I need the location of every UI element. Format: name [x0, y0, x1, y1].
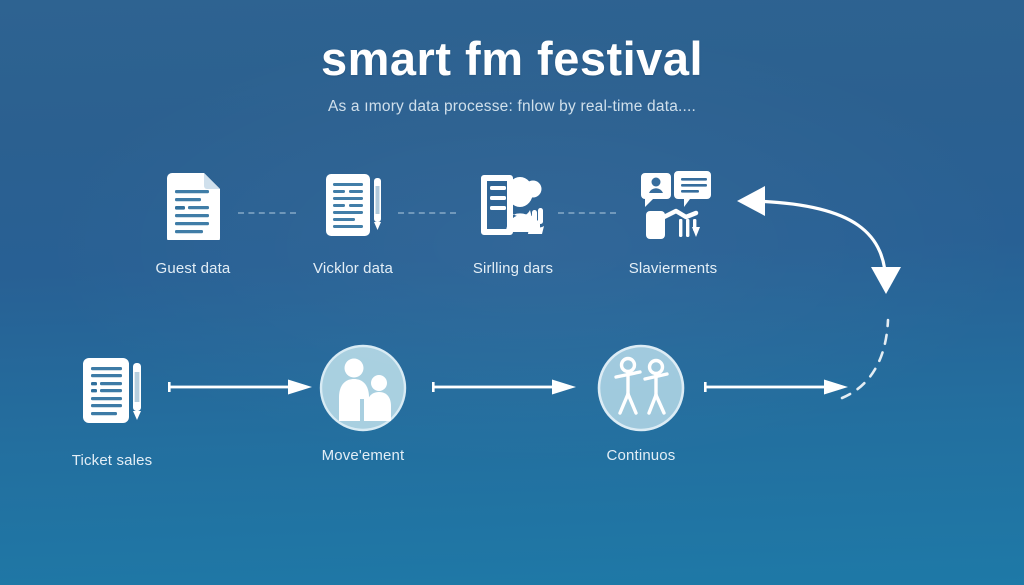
- node-guest-data[interactable]: Guest data: [118, 162, 268, 277]
- arrow-movement-to-continuos: [432, 378, 576, 396]
- document-pen-icon: [278, 162, 428, 248]
- document-pen-icon: [37, 350, 187, 436]
- node-label: Ticket sales: [37, 452, 187, 469]
- node-label: Sirlling dars: [438, 260, 588, 277]
- page-title: smart fm festival: [0, 34, 1024, 83]
- walking-people-circle-icon: [566, 345, 716, 431]
- node-label: Vicklor data: [278, 260, 428, 277]
- feedback-loop-arrow: [690, 160, 1024, 425]
- node-continuos[interactable]: Continuos: [566, 345, 716, 464]
- node-ticket-sales[interactable]: Ticket sales: [37, 350, 187, 469]
- node-label: Move'ement: [288, 447, 438, 464]
- node-label: Guest data: [118, 260, 268, 277]
- document-icon: [118, 162, 268, 248]
- node-sirlling-dars[interactable]: Sirlling dars: [438, 162, 588, 277]
- arrow-down-head: [871, 267, 901, 294]
- diagram-canvas: smart fm festival As a ımory data proces…: [0, 0, 1024, 585]
- person-form-icon: [438, 162, 588, 248]
- node-label: Continuos: [566, 447, 716, 464]
- node-movement[interactable]: Move'ement: [288, 345, 438, 464]
- node-vicklor-data[interactable]: Vicklor data: [278, 162, 428, 277]
- page-subtitle: As a ımory data processe: fnlow by real-…: [0, 98, 1024, 116]
- header: smart fm festival As a ımory data proces…: [0, 34, 1024, 116]
- people-circle-icon: [288, 345, 438, 431]
- arrow-left-head: [737, 186, 765, 216]
